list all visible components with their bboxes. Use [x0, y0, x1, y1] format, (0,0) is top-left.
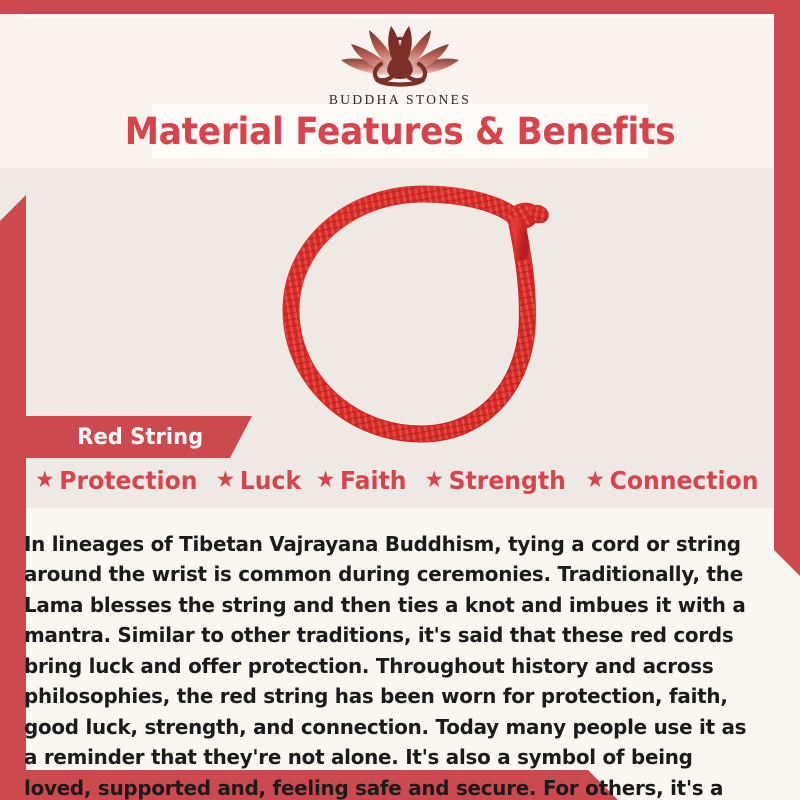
material-label-ribbon: Red String: [22, 416, 252, 458]
benefit-item: ★ Strength: [420, 466, 571, 495]
infographic-poster: BUDDHA STONES Material Features & Benefi…: [0, 0, 800, 800]
benefit-item: ★ Luck: [211, 466, 306, 495]
brand-logo: BUDDHA STONES: [0, 16, 800, 108]
star-icon: ★: [35, 469, 54, 492]
benefit-item: ★ Connection: [581, 466, 763, 495]
star-icon: ★: [215, 469, 234, 492]
frame-bar-left: [0, 195, 26, 800]
benefit-label: Luck: [239, 466, 300, 495]
benefit-item: ★ Protection: [30, 466, 202, 495]
product-image: [255, 158, 585, 468]
benefit-label: Protection: [59, 466, 197, 495]
lotus-meditation-icon: [325, 16, 475, 90]
benefit-label: Faith: [340, 466, 407, 495]
benefits-row: ★ Protection ★ Luck ★ Faith ★ Strength ★…: [22, 466, 772, 495]
description-text: In lineages of Tibetan Vajrayana Buddhis…: [24, 529, 750, 800]
star-icon: ★: [586, 469, 605, 492]
star-icon: ★: [424, 469, 443, 492]
title-banner: Material Features & Benefits: [152, 104, 648, 158]
red-braided-string-bracelet-icon: [255, 158, 585, 468]
benefit-item: ★ Faith: [312, 466, 412, 495]
benefit-label: Strength: [448, 466, 565, 495]
frame-bar-top: [0, 0, 800, 14]
material-label: Red String: [77, 425, 203, 450]
page-title: Material Features & Benefits: [125, 110, 676, 153]
benefit-label: Connection: [610, 466, 759, 495]
star-icon: ★: [316, 469, 335, 492]
